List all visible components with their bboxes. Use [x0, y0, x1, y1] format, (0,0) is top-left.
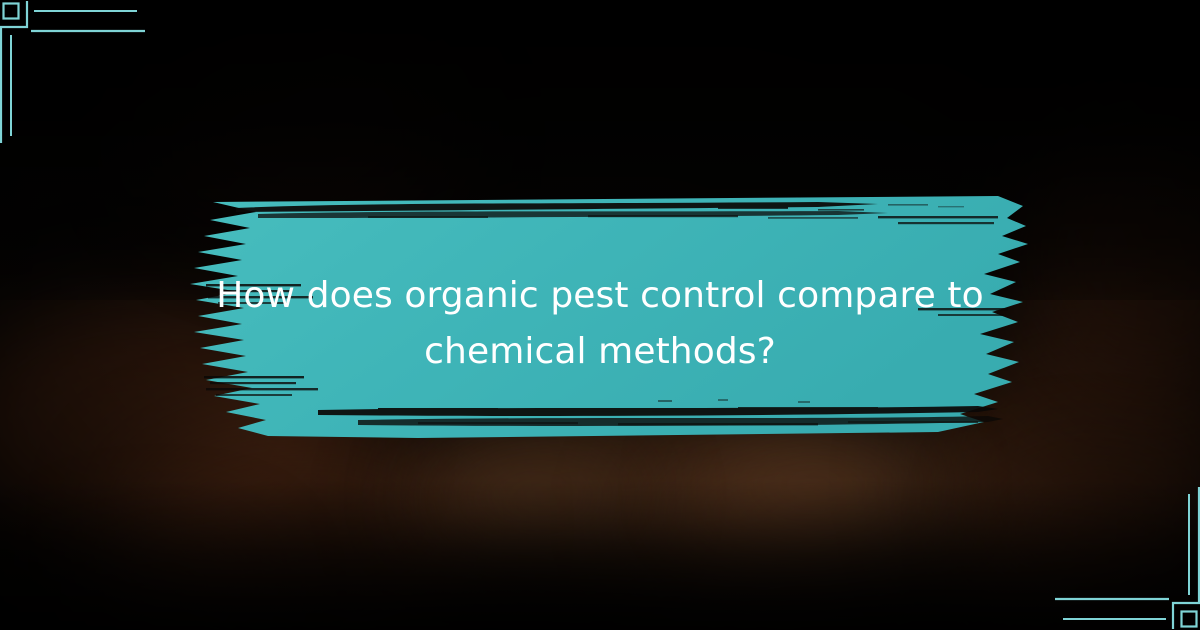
corner-square-icon — [4, 4, 19, 19]
corner-bracket-icon — [0, 0, 160, 160]
corner-square-icon — [1182, 612, 1197, 627]
corner-bracket-top-left — [0, 0, 160, 160]
corner-elbow-icon — [1, 1, 27, 42]
corner-elbow-icon — [1173, 588, 1199, 629]
social-card-canvas: How does organic pest control compare to… — [0, 0, 1200, 630]
background-bottom-shade — [0, 480, 1200, 630]
corner-bracket-icon — [1040, 470, 1200, 630]
page-title: How does organic pest control compare to… — [170, 268, 1030, 380]
corner-bracket-bottom-right — [1040, 470, 1200, 630]
